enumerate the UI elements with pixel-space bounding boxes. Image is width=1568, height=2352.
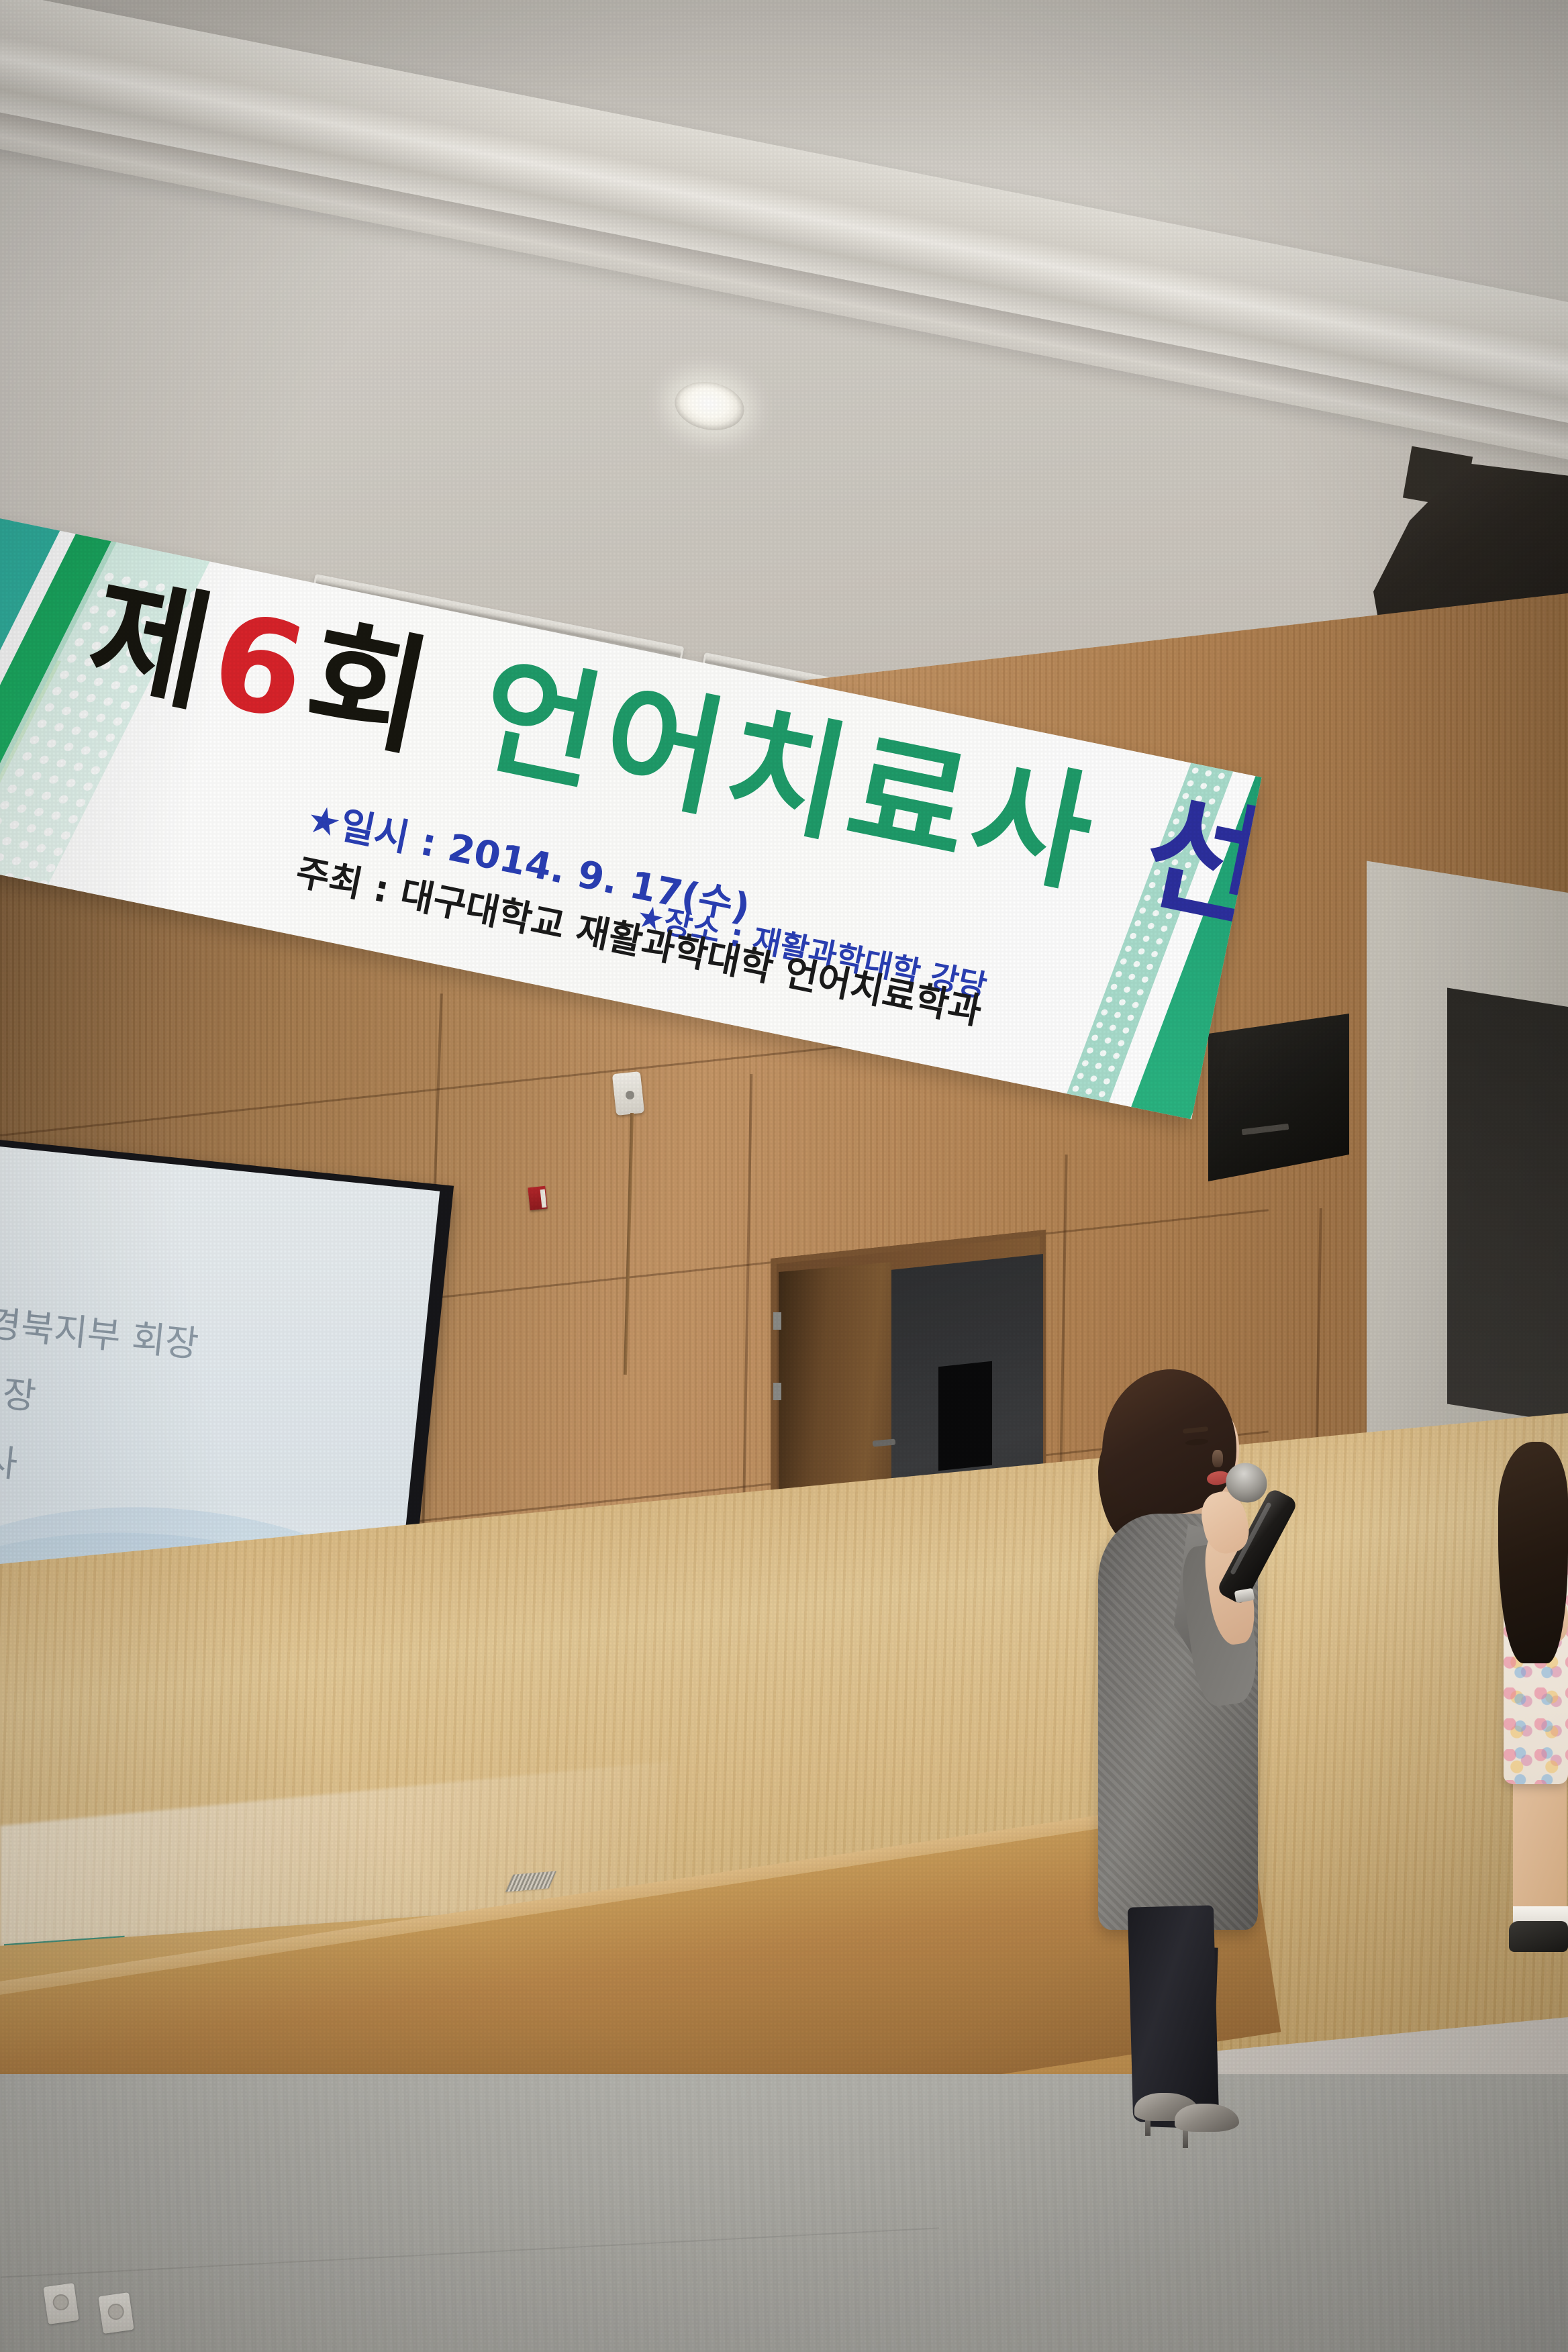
stage-outlet-1[interactable] xyxy=(43,2283,79,2324)
slide-text-block: 회장 사 협회 대구 경북지부 회장 인 부모회 부회장 병원 언어치료사 xyxy=(0,1200,440,1542)
speaker-nose xyxy=(1212,1450,1223,1467)
interior-tv-screen xyxy=(938,1361,992,1471)
speaker-pants xyxy=(1128,1905,1219,2122)
right-dark-recess xyxy=(1447,987,1568,1423)
bystander-hair xyxy=(1498,1442,1568,1663)
stage-outlet-2[interactable] xyxy=(98,2292,134,2334)
concrete-floor xyxy=(0,2074,1568,2352)
door-hinge-mid xyxy=(773,1383,781,1400)
bystander-shoe xyxy=(1509,1921,1568,1952)
wall-speaker-icon xyxy=(1208,1014,1349,1181)
sensor-lens-icon xyxy=(626,1091,634,1099)
bystander-legs xyxy=(1513,1772,1567,1926)
auditorium-photo: 제6회 언어치료사 선서식 ★일시 : 2014. 9. 17(수) ★장소 :… xyxy=(0,0,1568,2352)
door-hinge-top xyxy=(773,1312,781,1330)
